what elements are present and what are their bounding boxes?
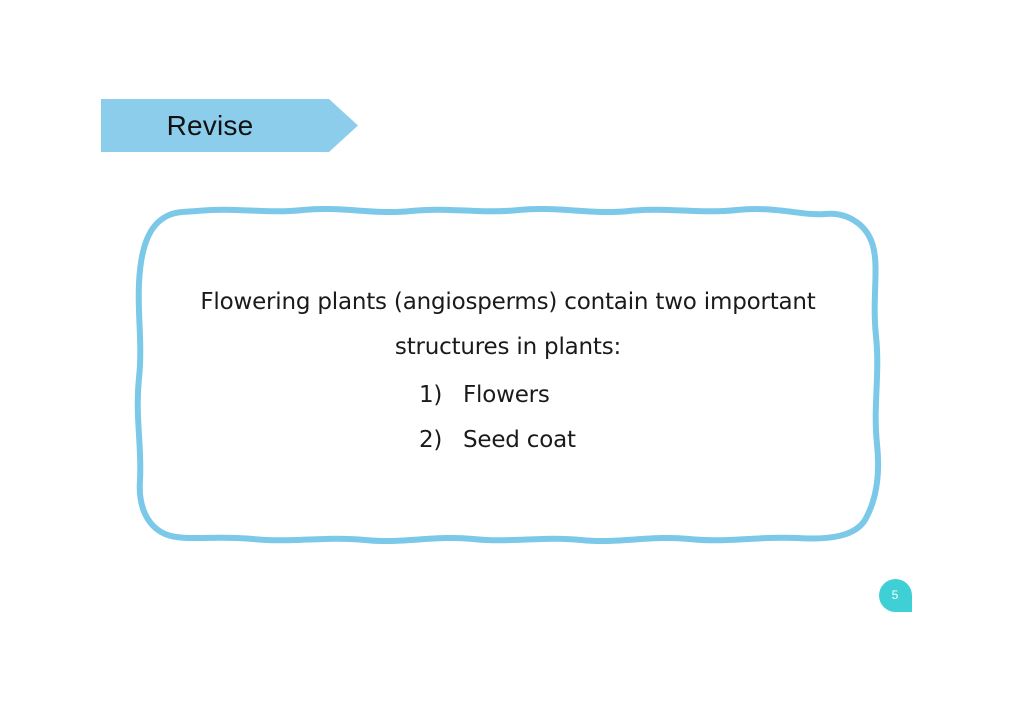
page-number-badge: 5 bbox=[879, 579, 912, 612]
content-box-text: Flowering plants (angiosperms) contain t… bbox=[165, 280, 851, 463]
banner-title: Revise bbox=[101, 99, 311, 152]
list-item: 2) Seed coat bbox=[165, 418, 851, 463]
slide-canvas: Revise Flowering plants (angiosperms) co… bbox=[0, 0, 1024, 721]
list-item-label: Flowers bbox=[463, 373, 611, 418]
list-item-number: 1) bbox=[405, 373, 463, 418]
page-number-label: 5 bbox=[879, 579, 912, 612]
section-banner: Revise bbox=[101, 99, 358, 152]
paragraph-line-2: structures in plants: bbox=[165, 325, 851, 370]
numbered-list: 1) Flowers 2) Seed coat bbox=[165, 373, 851, 463]
paragraph-line-1: Flowering plants (angiosperms) contain t… bbox=[165, 280, 851, 325]
list-item: 1) Flowers bbox=[165, 373, 851, 418]
list-item-number: 2) bbox=[405, 418, 463, 463]
content-box: Flowering plants (angiosperms) contain t… bbox=[125, 198, 891, 554]
list-item-label: Seed coat bbox=[463, 418, 611, 463]
